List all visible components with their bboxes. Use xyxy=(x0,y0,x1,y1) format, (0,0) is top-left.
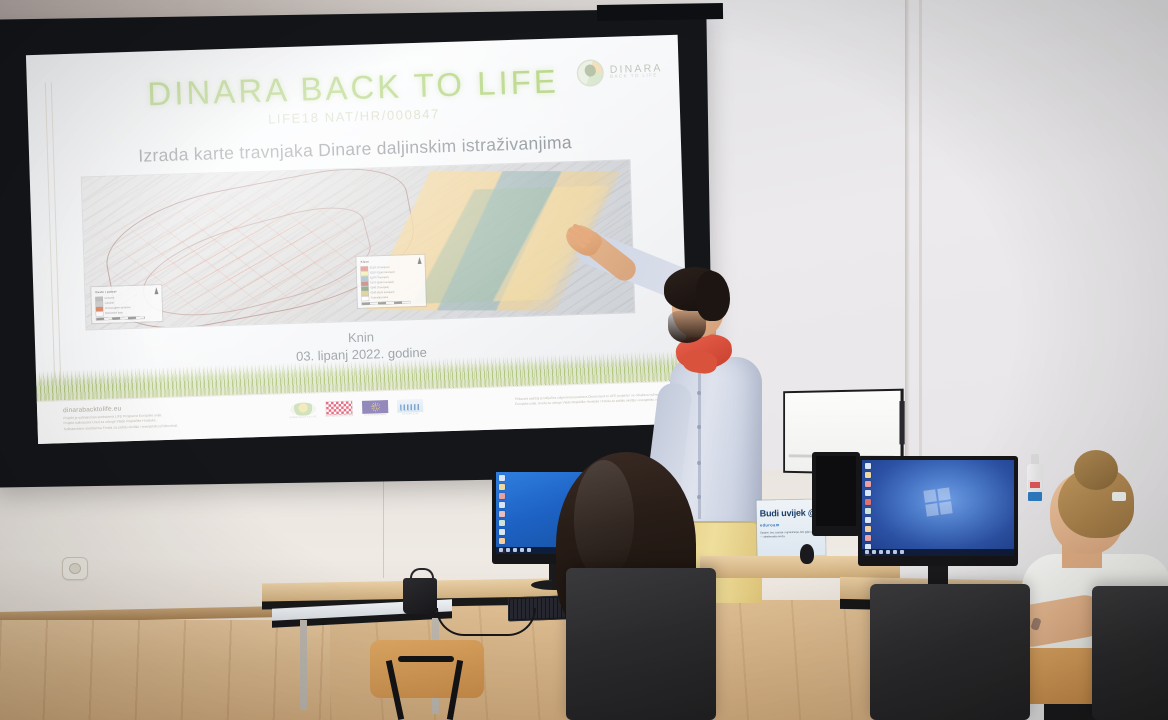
desktop-icon[interactable] xyxy=(499,493,505,499)
slide-footer-funding-text: Projekt je sufinanciran sredstvima LIFE … xyxy=(63,413,178,432)
legend-label: Područje parka xyxy=(371,296,389,300)
desktop-icon[interactable] xyxy=(499,520,505,526)
partner-logo-caption: NATURA 2000 xyxy=(402,413,418,416)
legend-label: 6210* (Travnjaci) xyxy=(370,266,390,270)
partner-logo-caption: REPUBLIKA HRVATSKA xyxy=(326,415,354,418)
taskbar-icon[interactable] xyxy=(513,548,517,552)
desktop-icons[interactable] xyxy=(499,475,505,554)
legend-swatch xyxy=(361,271,368,275)
legend-swatch xyxy=(361,291,368,295)
monitor-back-right-screen[interactable] xyxy=(816,456,856,526)
legend-label: 6240 (Travnjaci) xyxy=(370,286,389,290)
cable-loop xyxy=(436,608,536,636)
desktop-icon[interactable] xyxy=(499,538,505,544)
legend-swatch xyxy=(96,301,103,305)
monitor-right[interactable] xyxy=(858,456,1018,596)
presenter-hair-back xyxy=(696,271,730,321)
monitor-right-bezel xyxy=(858,456,1018,566)
taskbar-items[interactable] xyxy=(499,548,531,552)
slide-footer-partner-logos: DINARA BACK TO LIFE REPUBLIKA HRVATSKA L… xyxy=(289,398,424,420)
eu-life-icon xyxy=(362,400,388,414)
desktop-icon[interactable] xyxy=(865,472,871,478)
legend-swatch xyxy=(96,306,103,310)
taskbar-icon[interactable] xyxy=(520,548,524,552)
desktop-icon[interactable] xyxy=(499,484,505,490)
map-scalebar xyxy=(362,301,410,305)
windows-logo-icon xyxy=(923,488,952,517)
partner-logo-eu-life: LIFE PROGRAMME xyxy=(362,399,389,418)
north-arrow-icon xyxy=(154,287,158,294)
taskbar-icon[interactable] xyxy=(879,550,883,554)
partner-logo-natura2000: NATURA 2000 xyxy=(397,398,424,417)
monitor-back-right-bezel xyxy=(812,452,860,536)
dinara-logo: DINARA BACK TO LIFE xyxy=(576,57,663,87)
laptop-bag xyxy=(403,578,437,614)
legend-item: Nacionalni park xyxy=(96,309,158,316)
wall-socket xyxy=(63,558,87,579)
legend-label: Lokalne xyxy=(105,302,114,305)
dinara-bird-icon xyxy=(576,59,604,87)
taskbar-icon[interactable] xyxy=(506,548,510,552)
desktop-icon[interactable] xyxy=(865,481,871,487)
legend-swatch xyxy=(361,286,368,290)
desktop-icons[interactable] xyxy=(865,463,871,556)
partner-logo-caption: LIFE PROGRAMME xyxy=(364,414,387,417)
croatia-coat-of-arms-icon xyxy=(326,401,352,415)
map-legend-left: Ceste i putovi Državne Lokalne Antropoge… xyxy=(91,285,162,323)
dinara-logo-text: DINARA BACK TO LIFE xyxy=(610,63,663,80)
taskbar-icon[interactable] xyxy=(872,550,876,554)
legend-label: Nacionalni park xyxy=(105,311,123,315)
desktop-icon[interactable] xyxy=(865,499,871,505)
chair-black-foreground-left[interactable] xyxy=(566,568,716,720)
desktop-icon[interactable] xyxy=(865,508,871,514)
wall-corner-edge-shadow xyxy=(919,0,922,470)
monitor-back-right[interactable] xyxy=(812,452,860,536)
taskbar-icon[interactable] xyxy=(893,550,897,554)
legend-swatch xyxy=(96,311,103,315)
legend-swatch xyxy=(96,296,103,300)
projection-screen-housing xyxy=(597,3,723,21)
hair-highlight xyxy=(574,460,634,580)
banner-title: Budi uvijek @ xyxy=(760,508,817,519)
table-leg xyxy=(300,620,307,710)
whiteboard-hinge xyxy=(899,401,904,444)
legend-swatch xyxy=(361,276,368,280)
taskbar-icon[interactable] xyxy=(900,550,904,554)
hair-clip xyxy=(1112,492,1126,501)
slide-footer-url: dinarabacktolife.eu xyxy=(63,405,122,414)
map-scalebar xyxy=(96,317,144,321)
legend-right-title: Klase xyxy=(361,258,421,264)
classroom-photo: DINARA BACK TO LIFE LIFE18 NAT/HR/000847… xyxy=(0,0,1168,720)
desktop-icon[interactable] xyxy=(499,502,505,508)
desktop-icon[interactable] xyxy=(865,463,871,469)
taskbar-icon[interactable] xyxy=(527,548,531,552)
dinara-logo-tagline: BACK TO LIFE xyxy=(610,74,663,80)
shirt-button xyxy=(697,391,701,395)
taskbar-items[interactable] xyxy=(865,550,904,554)
mouse[interactable] xyxy=(800,544,814,564)
legend-label: Državne xyxy=(105,297,115,300)
chair-black-foreground-far-right[interactable] xyxy=(1092,586,1168,720)
taskbar-icon[interactable] xyxy=(886,550,890,554)
legend-swatch xyxy=(361,281,368,285)
taskbar-start-icon[interactable] xyxy=(865,550,869,554)
shirt-button xyxy=(697,495,701,499)
dinara-mark-icon xyxy=(290,402,316,416)
natura-2000-icon xyxy=(397,399,423,413)
monitor-right-stand xyxy=(928,566,948,584)
legend-swatch xyxy=(362,296,369,300)
monitor-right-screen[interactable] xyxy=(862,460,1014,556)
desktop-icon[interactable] xyxy=(865,535,871,541)
north-arrow-icon xyxy=(417,257,421,264)
desktop-icon[interactable] xyxy=(499,529,505,535)
partner-logo-croatia: REPUBLIKA HRVATSKA xyxy=(325,400,353,419)
taskbar-start-icon[interactable] xyxy=(499,548,503,552)
desktop-icon[interactable] xyxy=(865,526,871,532)
desktop-icon[interactable] xyxy=(865,490,871,496)
legend-item: Područje parka xyxy=(362,294,422,301)
student-right-hair-bun xyxy=(1074,450,1118,490)
desktop-icon[interactable] xyxy=(499,511,505,517)
desktop-icon[interactable] xyxy=(499,475,505,481)
shirt-button xyxy=(697,461,701,465)
screen-pull-cord[interactable] xyxy=(383,478,384,578)
wall-corner-edge xyxy=(905,0,910,470)
chair-black-foreground-right[interactable] xyxy=(870,584,1030,720)
taskbar[interactable] xyxy=(862,549,1014,556)
chair-crossbar xyxy=(398,656,454,662)
shirt-button xyxy=(697,425,701,429)
partner-logo-caption: DINARA BACK TO LIFE xyxy=(289,416,316,419)
legend-label: 6170 (Travnjaci) xyxy=(370,276,389,280)
legend-left-title: Ceste i putovi xyxy=(95,288,157,294)
desktop-icon[interactable] xyxy=(865,517,871,523)
banner-subtitle: eduroam xyxy=(760,522,780,527)
legend-swatch xyxy=(361,266,368,270)
slide-map: Ceste i putovi Državne Lokalne Antropoge… xyxy=(82,160,635,329)
partner-logo-dinara: DINARA BACK TO LIFE xyxy=(289,401,317,420)
map-legend-right: Klase 6210* (Travnjaci) 6210* (Suhi trav… xyxy=(356,255,426,308)
